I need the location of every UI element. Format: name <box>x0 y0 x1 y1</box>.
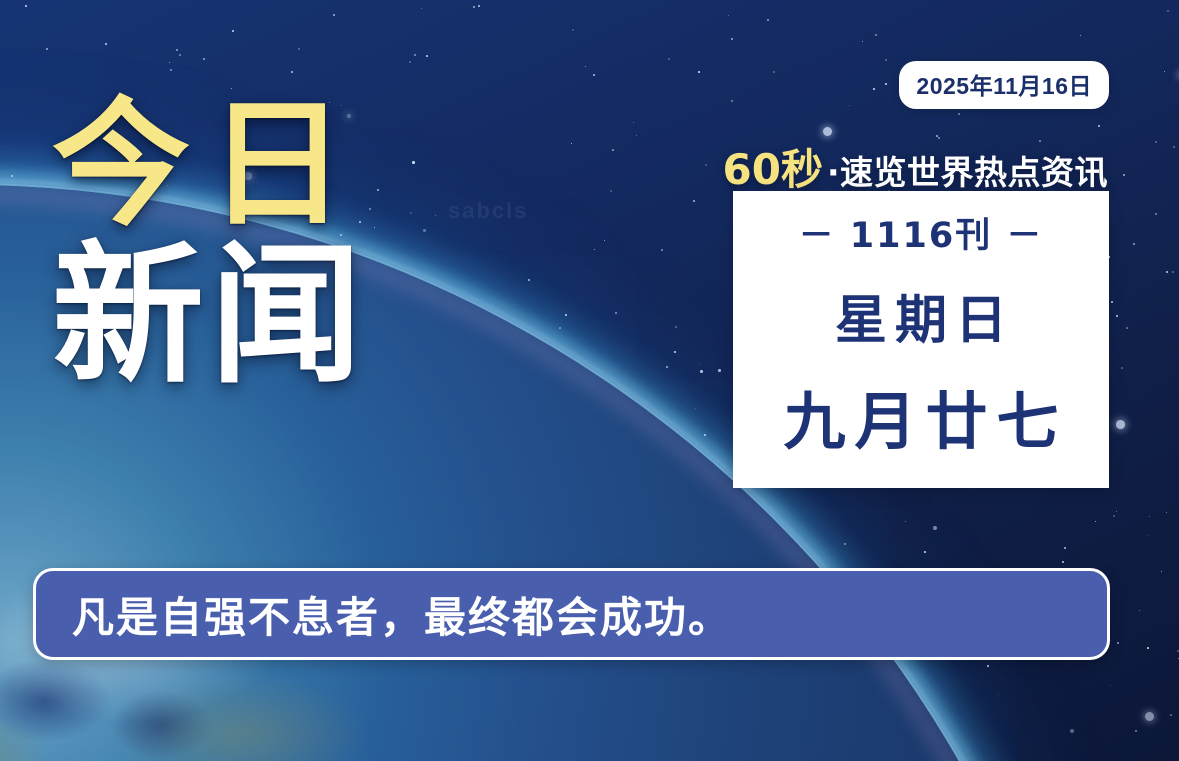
star <box>675 326 677 328</box>
star <box>1148 535 1149 536</box>
star <box>1161 571 1162 572</box>
star <box>1170 714 1172 716</box>
star <box>773 71 775 73</box>
star <box>169 62 170 63</box>
star <box>426 55 428 57</box>
star <box>1164 71 1165 72</box>
star <box>1155 141 1157 143</box>
quote-bar: 凡是自强不息者，最终都会成功。 <box>33 568 1110 660</box>
watermark-text: sabcls <box>448 198 529 224</box>
star <box>594 249 595 250</box>
star <box>1166 512 1167 513</box>
star <box>1080 35 1081 36</box>
star <box>528 279 530 281</box>
brand-title: 今日 新闻 <box>52 96 368 396</box>
star <box>1116 315 1118 317</box>
star <box>612 149 614 151</box>
star <box>885 83 887 85</box>
star <box>559 327 561 329</box>
star <box>585 66 586 67</box>
star <box>767 19 769 21</box>
star <box>46 48 48 50</box>
star <box>1110 685 1111 686</box>
star <box>905 521 906 522</box>
star <box>1167 10 1169 12</box>
star <box>11 175 13 177</box>
star <box>728 15 729 16</box>
star <box>668 58 670 60</box>
star <box>1149 516 1150 517</box>
star <box>695 408 696 409</box>
star <box>674 351 676 353</box>
issue-number: － 1116刊 － <box>799 207 1044 258</box>
star <box>1133 243 1135 245</box>
star <box>958 113 960 115</box>
star <box>1062 561 1064 563</box>
tagline: 60秒 ·速览世界热点资讯 <box>723 136 1109 197</box>
star <box>1123 174 1125 176</box>
star <box>1147 647 1149 649</box>
star <box>1095 521 1096 522</box>
date-badge: 2025年11月16日 <box>899 61 1109 109</box>
star <box>705 164 707 166</box>
star <box>333 14 335 16</box>
star <box>565 314 567 316</box>
issue-info-card: － 1116刊 － 星期日 九月廿七 <box>733 191 1109 488</box>
star <box>699 363 700 364</box>
star <box>572 29 574 31</box>
star <box>203 58 205 60</box>
star <box>666 366 668 368</box>
star <box>1098 125 1100 127</box>
star <box>414 54 416 56</box>
star <box>873 88 875 90</box>
tagline-highlight: 60秒 <box>723 136 823 197</box>
star <box>633 122 634 123</box>
star <box>176 49 178 51</box>
star <box>593 74 595 76</box>
star <box>704 434 706 436</box>
star <box>291 71 293 73</box>
star <box>1111 301 1113 303</box>
star <box>604 240 605 241</box>
star <box>25 5 27 7</box>
star <box>514 304 515 305</box>
star <box>1121 367 1123 369</box>
star <box>1139 610 1140 611</box>
star <box>1116 420 1125 429</box>
brand-title-line-1: 今日 <box>52 96 368 234</box>
star <box>849 105 850 106</box>
star <box>1113 515 1115 517</box>
star <box>636 135 637 136</box>
star <box>374 227 375 228</box>
star <box>179 54 181 56</box>
star <box>298 48 300 50</box>
star <box>1070 729 1074 733</box>
star <box>105 43 107 45</box>
weekday-label: 星期日 <box>827 278 1015 353</box>
star <box>731 100 733 102</box>
star <box>1173 146 1175 148</box>
quote-text: 凡是自强不息者，最终都会成功。 <box>72 584 732 645</box>
star <box>823 127 832 136</box>
lunar-date-label: 九月廿七 <box>774 371 1067 461</box>
news-poster: sabcls 今日 新闻 2025年11月16日 60秒 ·速览世界热点资讯 －… <box>0 0 1179 761</box>
star <box>661 249 663 251</box>
star <box>998 694 999 695</box>
star <box>435 215 436 216</box>
star <box>412 161 415 164</box>
star <box>1172 271 1174 273</box>
star <box>844 543 846 545</box>
tagline-rest: ·速览世界热点资讯 <box>827 146 1108 194</box>
star <box>875 34 877 36</box>
star <box>885 59 887 61</box>
star <box>1116 511 1117 512</box>
star <box>610 190 612 192</box>
star <box>423 229 426 232</box>
star <box>232 30 234 32</box>
star <box>862 41 863 42</box>
star <box>377 189 379 191</box>
star <box>1166 271 1168 273</box>
star <box>473 6 475 8</box>
star <box>1155 213 1157 215</box>
star <box>421 8 422 9</box>
star <box>1145 712 1154 721</box>
star <box>1117 642 1119 644</box>
star <box>478 5 480 7</box>
star <box>987 665 989 667</box>
star <box>718 369 721 372</box>
star <box>1064 547 1066 549</box>
star <box>924 551 926 553</box>
star <box>615 312 617 314</box>
star <box>731 38 733 40</box>
star <box>369 208 371 210</box>
star <box>409 61 411 63</box>
brand-title-line-2: 新闻 <box>52 236 368 396</box>
star <box>1135 730 1137 732</box>
star <box>170 69 172 71</box>
star <box>698 71 700 73</box>
star <box>933 526 937 530</box>
star <box>571 143 572 144</box>
star <box>1126 327 1128 329</box>
star <box>693 200 695 202</box>
star <box>700 370 703 373</box>
star <box>410 212 412 214</box>
